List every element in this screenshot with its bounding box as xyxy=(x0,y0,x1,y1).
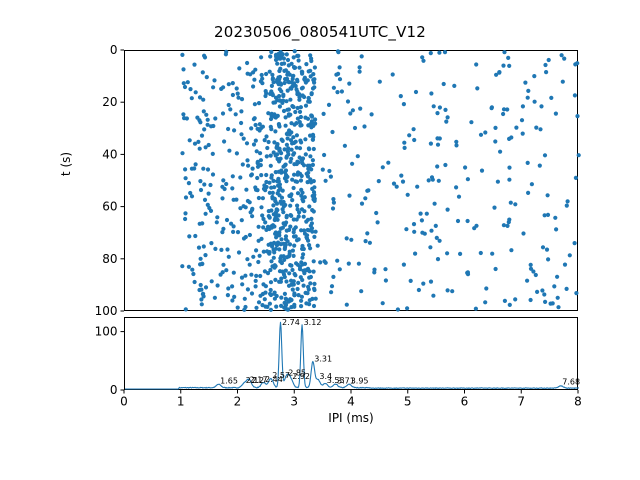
scatter-point xyxy=(330,284,334,288)
scatter-point xyxy=(376,220,380,224)
scatter-point xyxy=(285,52,289,56)
scatter-point xyxy=(272,256,276,260)
scatter-point xyxy=(264,72,268,76)
scatter-point xyxy=(256,260,260,264)
matplotlib-figure: 20230506_080541UTC_V12 t (s) 1.652.12.17… xyxy=(0,0,640,480)
scatter-point xyxy=(282,109,286,113)
scatter-point xyxy=(274,264,278,268)
scatter-point xyxy=(268,54,272,58)
scatter-point xyxy=(546,193,550,197)
scatter-point xyxy=(268,302,272,306)
scatter-point xyxy=(258,122,262,126)
scatter-point xyxy=(236,306,240,310)
scatter-point xyxy=(181,67,185,71)
scatter-point xyxy=(456,219,460,223)
scatter-point xyxy=(573,93,577,97)
scatter-point xyxy=(293,293,297,297)
scatter-point xyxy=(292,244,296,248)
scatter-point xyxy=(289,264,293,268)
scatter-point xyxy=(275,62,279,66)
scatter-point xyxy=(180,264,184,268)
scatter-point xyxy=(264,134,268,138)
scatter-point xyxy=(180,53,184,57)
scatter-point xyxy=(184,195,188,199)
x-tick-label: 2 xyxy=(234,395,242,409)
scatter-point xyxy=(310,226,314,230)
scatter-point xyxy=(311,194,315,198)
scatter-y-tick-label: 0 xyxy=(110,43,118,57)
scatter-point xyxy=(299,304,303,308)
scatter-point xyxy=(215,215,219,219)
scatter-point xyxy=(421,282,425,286)
scatter-point xyxy=(187,181,191,185)
scatter-point xyxy=(395,185,399,189)
peak-label: 7.68 xyxy=(562,378,580,387)
scatter-point xyxy=(239,121,243,125)
scatter-point xyxy=(322,153,326,157)
scatter-point xyxy=(253,102,257,106)
scatter-point xyxy=(201,167,205,171)
scatter-point xyxy=(237,250,241,254)
scatter-point xyxy=(274,170,278,174)
scatter-point xyxy=(544,70,548,74)
scatter-point xyxy=(269,50,273,54)
scatter-point xyxy=(509,248,513,252)
scatter-point xyxy=(231,93,235,97)
scatter-point xyxy=(555,275,559,279)
scatter-y-tick-label: 60 xyxy=(102,200,117,214)
scatter-point xyxy=(181,112,185,116)
scatter-point xyxy=(182,81,186,85)
scatter-point xyxy=(259,158,263,162)
scatter-point xyxy=(295,162,299,166)
scatter-point xyxy=(543,300,547,304)
x-tick-label: 7 xyxy=(517,395,525,409)
scatter-point xyxy=(273,100,277,104)
scatter-point xyxy=(294,225,298,229)
scatter-point xyxy=(256,165,260,169)
scatter-point xyxy=(372,270,376,274)
scatter-point xyxy=(220,196,224,200)
scatter-point xyxy=(279,200,283,204)
scatter-point xyxy=(193,142,197,146)
scatter-point xyxy=(285,143,289,147)
scatter-point xyxy=(232,224,236,228)
scatter-point xyxy=(496,180,500,184)
scatter-point xyxy=(296,117,300,121)
scatter-point xyxy=(255,188,259,192)
hist-y-tick-label: 0 xyxy=(110,383,118,397)
scatter-point xyxy=(292,151,296,155)
scatter-point xyxy=(282,272,286,276)
scatter-point xyxy=(299,299,303,303)
scatter-point xyxy=(331,275,335,279)
scatter-point xyxy=(184,176,188,180)
scatter-point xyxy=(244,188,248,192)
scatter-point xyxy=(254,279,258,283)
scatter-point xyxy=(274,153,278,157)
scatter-point xyxy=(277,123,281,127)
scatter-point xyxy=(300,256,304,260)
scatter-point xyxy=(263,94,267,98)
scatter-point xyxy=(331,197,335,201)
scatter-point xyxy=(203,198,207,202)
scatter-point xyxy=(231,81,235,85)
scatter-point xyxy=(257,225,261,229)
scatter-point xyxy=(293,273,297,277)
scatter-point xyxy=(466,177,470,181)
scatter-point xyxy=(366,188,370,192)
scatter-point xyxy=(261,225,265,229)
scatter-point xyxy=(553,216,557,220)
scatter-point xyxy=(265,154,269,158)
scatter-point xyxy=(289,283,293,287)
scatter-point xyxy=(224,50,228,54)
scatter-point xyxy=(429,51,433,55)
scatter-point xyxy=(538,164,542,168)
scatter-point xyxy=(311,163,315,167)
scatter-point xyxy=(272,250,276,254)
scatter-point xyxy=(269,288,273,292)
scatter-point xyxy=(223,187,227,191)
scatter-point xyxy=(258,151,262,155)
scatter-point xyxy=(240,282,244,286)
x-tick-label: 6 xyxy=(461,395,469,409)
scatter-point xyxy=(358,65,362,69)
scatter-point xyxy=(474,307,478,311)
scatter-point xyxy=(336,50,340,54)
scatter-point xyxy=(296,281,300,285)
scatter-point xyxy=(494,73,498,77)
scatter-point xyxy=(225,247,229,251)
scatter-point xyxy=(269,164,273,168)
scatter-point xyxy=(275,208,279,212)
hist-y-tick-label: 100 xyxy=(95,325,118,339)
scatter-point xyxy=(245,141,249,145)
scatter-point xyxy=(203,253,207,257)
scatter-point xyxy=(257,101,261,105)
scatter-point xyxy=(284,124,288,128)
scatter-point xyxy=(306,164,310,168)
scatter-point xyxy=(231,174,235,178)
scatter-point xyxy=(306,117,310,121)
scatter-point xyxy=(274,96,278,100)
scatter-point xyxy=(297,214,301,218)
scatter-point xyxy=(249,126,253,130)
scatter-point xyxy=(433,202,437,206)
scatter-point xyxy=(219,248,223,252)
scatter-point xyxy=(554,112,558,116)
scatter-point xyxy=(311,78,315,82)
x-tick-label: 3 xyxy=(290,395,298,409)
scatter-point xyxy=(492,206,496,210)
scatter-point xyxy=(331,206,335,210)
scatter-point xyxy=(454,185,458,189)
scatter-point xyxy=(363,196,367,200)
scatter-point xyxy=(209,124,213,128)
scatter-point xyxy=(277,233,281,237)
scatter-point xyxy=(529,263,533,267)
scatter-point xyxy=(222,139,226,143)
scatter-point xyxy=(259,173,263,177)
scatter-point xyxy=(534,126,538,130)
scatter-point xyxy=(211,85,215,89)
scatter-point xyxy=(254,274,258,278)
scatter-point xyxy=(277,147,281,151)
scatter-point xyxy=(310,221,314,225)
scatter-point xyxy=(200,134,204,138)
scatter-point xyxy=(533,100,537,104)
scatter-point xyxy=(279,169,283,173)
scatter-point xyxy=(425,212,429,216)
scatter-point xyxy=(429,229,433,233)
scatter-point xyxy=(304,104,308,108)
scatter-point xyxy=(305,268,309,272)
scatter-point xyxy=(309,217,313,221)
scatter-point xyxy=(246,287,250,291)
scatter-point xyxy=(480,169,484,173)
x-tick-label: 0 xyxy=(120,395,128,409)
scatter-point xyxy=(242,308,246,312)
scatter-point xyxy=(227,82,231,86)
scatter-point xyxy=(272,140,276,144)
scatter-point xyxy=(551,301,555,305)
scatter-point xyxy=(304,62,308,66)
scatter-point xyxy=(501,64,505,68)
scatter-point xyxy=(228,107,232,111)
scatter-point xyxy=(226,127,230,131)
scatter-point xyxy=(324,261,328,265)
scatter-point xyxy=(565,204,569,208)
scatter-point xyxy=(540,288,544,292)
scatter-point xyxy=(215,220,219,224)
scatter-point xyxy=(574,291,578,295)
scatter-point xyxy=(386,161,390,165)
scatter-point xyxy=(324,179,328,183)
scatter-point xyxy=(293,110,297,114)
scatter-point xyxy=(475,86,479,90)
scatter-point xyxy=(198,120,202,124)
scatter-point xyxy=(521,132,525,136)
scatter-point xyxy=(513,297,517,301)
scatter-point xyxy=(432,104,436,108)
scatter-point xyxy=(213,296,217,300)
scatter-point xyxy=(343,144,347,148)
scatter-point xyxy=(402,263,406,267)
scatter-point xyxy=(240,97,244,101)
scatter-point xyxy=(446,115,450,119)
scatter-point xyxy=(493,126,497,130)
scatter-point xyxy=(543,63,547,67)
scatter-point xyxy=(197,288,201,292)
scatter-point xyxy=(312,209,316,213)
scatter-point xyxy=(435,164,439,168)
scatter-point xyxy=(374,211,378,215)
scatter-point xyxy=(254,284,258,288)
scatter-point xyxy=(565,287,569,291)
scatter-point xyxy=(429,142,433,146)
scatter-point xyxy=(246,164,250,168)
scatter-point xyxy=(241,162,245,166)
scatter-point xyxy=(268,292,272,296)
scatter-point xyxy=(501,112,505,116)
scatter-point xyxy=(248,263,252,267)
scatter-point xyxy=(290,141,294,145)
scatter-point xyxy=(280,138,284,142)
scatter-point xyxy=(276,241,280,245)
scatter-point xyxy=(245,158,249,162)
scatter-point xyxy=(245,61,249,65)
scatter-point xyxy=(290,178,294,182)
scatter-point xyxy=(358,107,362,111)
scatter-point xyxy=(552,284,556,288)
scatter-point xyxy=(208,183,212,187)
scatter-point xyxy=(526,161,530,165)
scatter-point xyxy=(263,291,267,295)
scatter-point xyxy=(244,205,248,209)
scatter-plot-area xyxy=(125,51,577,310)
scatter-point xyxy=(345,303,349,307)
scatter-point xyxy=(299,140,303,144)
scatter-point xyxy=(483,130,487,134)
scatter-point xyxy=(298,146,302,150)
scatter-point xyxy=(446,288,450,292)
x-tick-label: 1 xyxy=(177,395,185,409)
scatter-point xyxy=(483,300,487,304)
scatter-point xyxy=(545,248,549,252)
scatter-point xyxy=(308,154,312,158)
scatter-point xyxy=(298,110,302,114)
scatter-point xyxy=(263,220,267,224)
scatter-point xyxy=(270,73,274,77)
scatter-point xyxy=(279,237,283,241)
scatter-point xyxy=(270,226,274,230)
scatter-point xyxy=(463,165,467,169)
scatter-point xyxy=(350,162,354,166)
scatter-point xyxy=(297,58,301,62)
scatter-point xyxy=(300,86,304,90)
scatter-point xyxy=(454,143,458,147)
scatter-point xyxy=(221,263,225,267)
scatter-point xyxy=(312,147,316,151)
scatter-point xyxy=(312,270,316,274)
scatter-point xyxy=(304,220,308,224)
scatter-point xyxy=(520,118,524,122)
histogram-panel: 1.652.12.172.22.442.572.742.852.923.123.… xyxy=(124,317,578,390)
scatter-point xyxy=(252,117,256,121)
scatter-point xyxy=(442,82,446,86)
scatter-point xyxy=(526,191,530,195)
scatter-point xyxy=(358,70,362,74)
scatter-point xyxy=(435,236,439,240)
scatter-point xyxy=(274,247,278,251)
scatter-point xyxy=(190,96,194,100)
scatter-point xyxy=(538,127,542,131)
scatter-point xyxy=(421,59,425,63)
scatter-point xyxy=(284,279,288,283)
peak-label: 2.74 xyxy=(282,318,300,327)
scatter-point xyxy=(276,52,280,56)
scatter-point xyxy=(260,73,264,77)
scatter-point xyxy=(212,78,216,82)
scatter-point xyxy=(276,191,280,195)
x-tick-label: 5 xyxy=(404,395,412,409)
scatter-point xyxy=(237,66,241,70)
scatter-point xyxy=(258,294,262,298)
scatter-point xyxy=(437,51,441,55)
scatter-point xyxy=(213,116,217,120)
scatter-point xyxy=(431,294,435,298)
scatter-point xyxy=(286,136,290,140)
scatter-point xyxy=(206,203,210,207)
scatter-point xyxy=(282,56,286,60)
scatter-point xyxy=(303,78,307,82)
scatter-point xyxy=(197,246,201,250)
scatter-point xyxy=(437,179,441,183)
scatter-point xyxy=(300,191,304,195)
scatter-point xyxy=(200,302,204,306)
scatter-point xyxy=(188,191,192,195)
scatter-point xyxy=(406,193,410,197)
scatter-point xyxy=(292,173,296,177)
scatter-point xyxy=(209,209,213,213)
scatter-point xyxy=(299,157,303,161)
scatter-point xyxy=(267,140,271,144)
scatter-point xyxy=(285,215,289,219)
scatter-point xyxy=(252,78,256,82)
scatter-point xyxy=(216,283,220,287)
scatter-point xyxy=(284,234,288,238)
scatter-point xyxy=(269,154,273,158)
scatter-point xyxy=(213,247,217,251)
scatter-point xyxy=(277,213,281,217)
scatter-point xyxy=(523,81,527,85)
scatter-point xyxy=(409,279,413,283)
scatter-point xyxy=(255,176,259,180)
scatter-point xyxy=(183,217,187,221)
peak-label: 1.65 xyxy=(220,377,238,386)
scatter-point xyxy=(443,163,447,167)
scatter-point xyxy=(279,277,283,281)
scatter-point xyxy=(298,123,302,127)
scatter-point xyxy=(335,90,339,94)
scatter-point xyxy=(414,90,418,94)
scatter-point xyxy=(226,293,230,297)
scatter-point xyxy=(542,292,546,296)
scatter-point xyxy=(296,54,300,58)
scatter-point xyxy=(413,252,417,256)
scatter-point xyxy=(310,121,314,125)
scatter-point xyxy=(330,130,334,134)
scatter-point xyxy=(251,167,255,171)
scatter-point xyxy=(198,179,202,183)
scatter-point xyxy=(281,93,285,97)
peak-label: 3.31 xyxy=(314,354,332,363)
scatter-point xyxy=(307,287,311,291)
scatter-point xyxy=(412,222,416,226)
x-tick-label: 8 xyxy=(574,395,582,409)
scatter-point xyxy=(291,74,295,78)
scatter-point xyxy=(227,255,231,259)
scatter-point xyxy=(244,235,248,239)
scatter-point xyxy=(568,253,572,257)
scatter-point xyxy=(428,245,432,249)
scatter-point xyxy=(479,133,483,137)
scatter-point xyxy=(434,224,438,228)
scatter-point xyxy=(283,170,287,174)
scatter-point xyxy=(563,263,567,267)
scatter-point xyxy=(284,269,288,273)
